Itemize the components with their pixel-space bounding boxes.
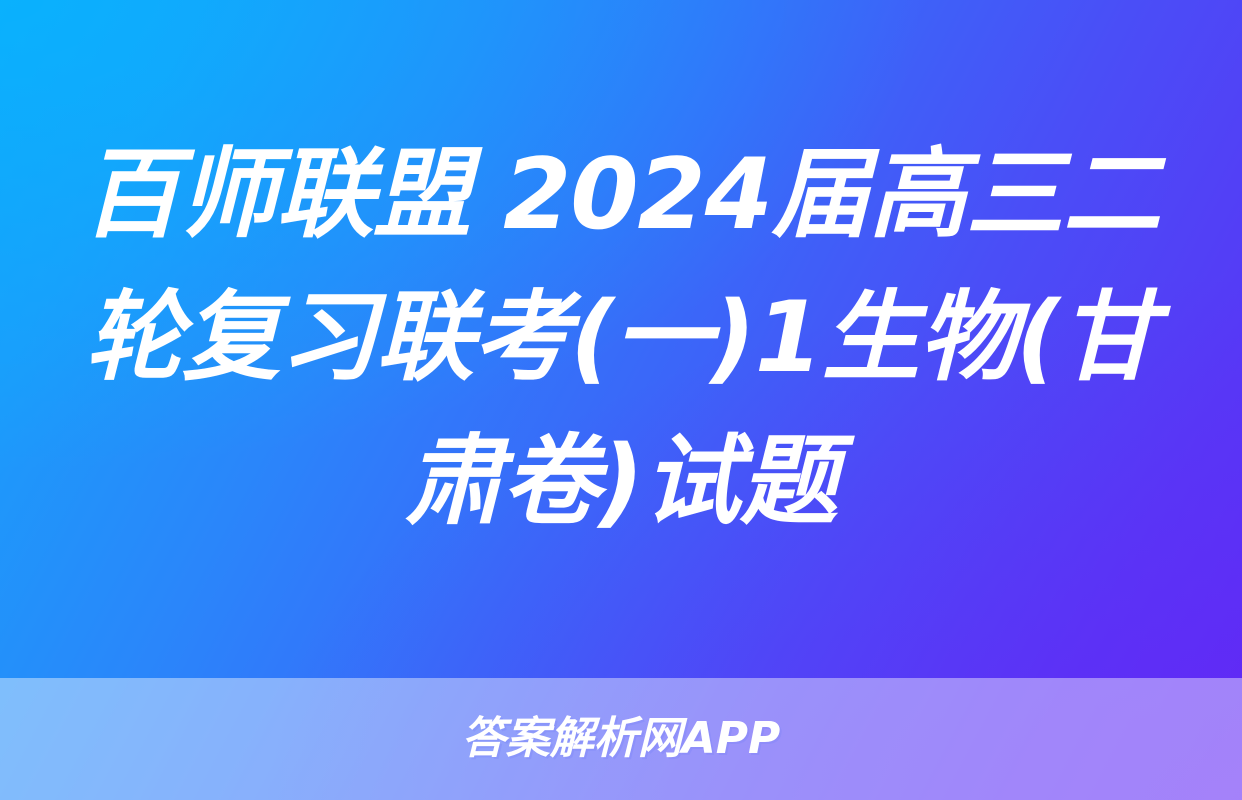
watermark-band: 答案解析网APP xyxy=(0,678,1242,800)
poster-canvas: 百师联盟 2024届高三二轮复习联考(一)1生物(甘肃卷)试题 答案解析网APP xyxy=(0,0,1242,800)
watermark-label: 答案解析网APP xyxy=(462,717,781,761)
headline-region: 百师联盟 2024届高三二轮复习联考(一)1生物(甘肃卷)试题 xyxy=(0,0,1242,678)
page-title: 百师联盟 2024届高三二轮复习联考(一)1生物(甘肃卷)试题 xyxy=(78,124,1164,553)
